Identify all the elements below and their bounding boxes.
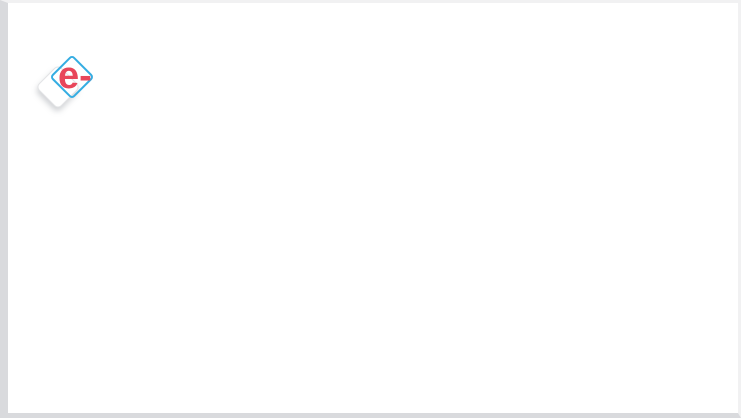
brand-wordmark: e-Transporters — [58, 57, 317, 95]
brand-wordmark-prefix: e- — [58, 57, 92, 95]
slide-text-block: e-Transporters e- — [40, 55, 430, 111]
presenter-info: Presenter: Lin xing 2025.5.22 — [50, 288, 163, 324]
presentation-slide: e-Transporters e- Introduction to Electr… — [0, 0, 741, 418]
presenter-name: Presenter: Lin xing — [50, 288, 163, 306]
brand-lockup: e-Transporters e- — [40, 55, 430, 111]
presentation-date: 2025.5.22 — [50, 306, 163, 324]
slide-canvas: e-Transporters e- Introduction to Electr… — [8, 3, 738, 413]
page-title: Introduction to Electromagnetic Compatib… — [40, 129, 440, 225]
